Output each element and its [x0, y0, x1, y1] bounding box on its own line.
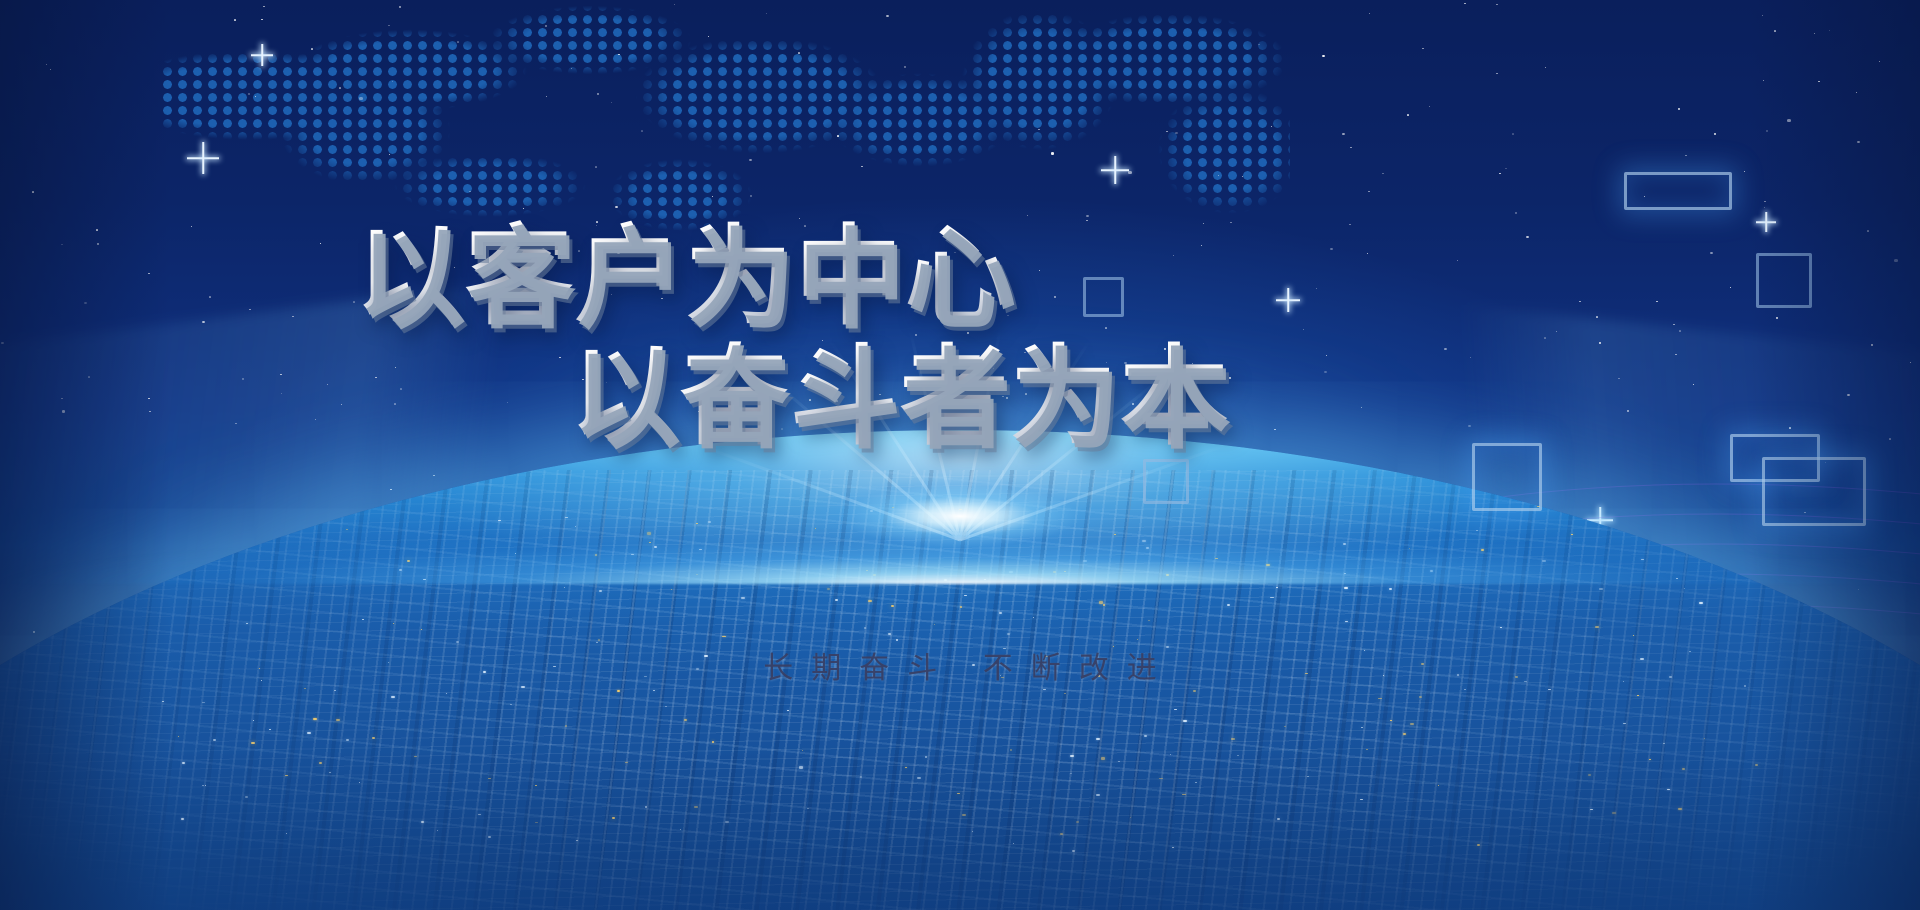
frame-left-tall: [1472, 443, 1542, 511]
frame-upper-center: [1083, 277, 1124, 317]
banner-canvas: 以客户为中心 以奋斗者为本 长期奋斗 不断改进: [0, 0, 1920, 910]
earth-globe: [0, 430, 1920, 910]
star-sparkle-icon: [1276, 288, 1300, 312]
star-sparkle-icon: [1756, 212, 1776, 232]
frame-top-right-wide: [1624, 172, 1732, 210]
frame-right-lower: [1762, 457, 1866, 526]
city-texture: [0, 470, 1920, 910]
frame-title-small: [1143, 459, 1189, 504]
dotted-world-map-icon: [160, 0, 1290, 230]
frame-mid-right-small: [1756, 253, 1812, 308]
